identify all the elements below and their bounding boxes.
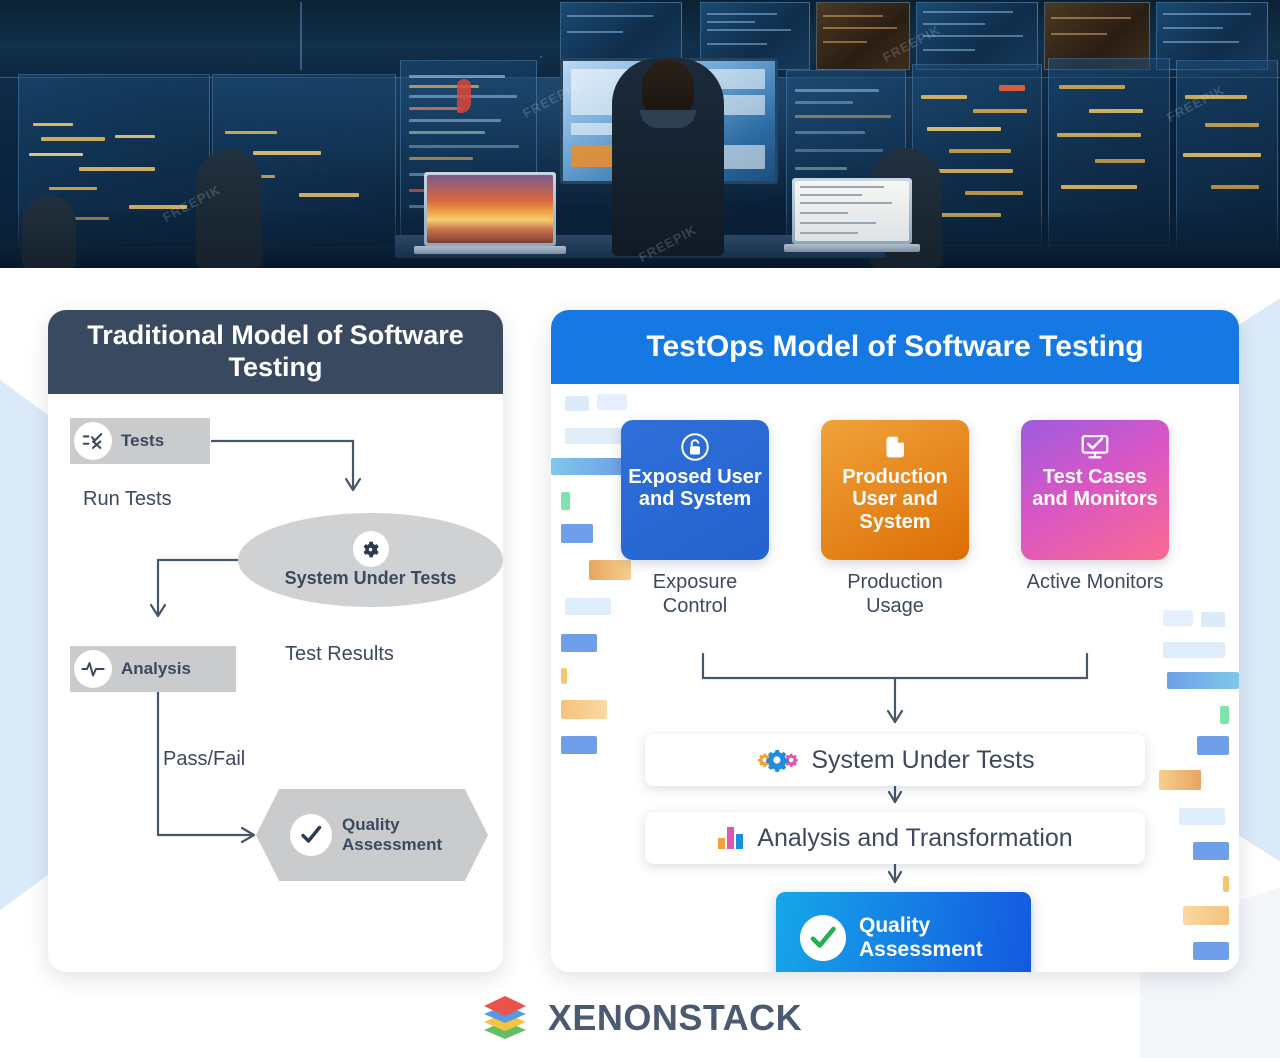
wall-monitor [300,2,302,70]
gear-icon [353,531,389,567]
node-quality-assessment-label: Quality Assessment [342,815,488,854]
outcome-quality-assessment-label: Quality Assessment [859,914,1031,962]
gears-icon [755,747,799,773]
office-chair [22,196,76,268]
step-analysis-transformation[interactable]: Analysis and Transformation [645,812,1145,864]
check-circle-icon [800,915,846,961]
node-system-under-tests[interactable]: System Under Tests [238,513,503,607]
checklist-icon [74,422,112,460]
testops-model-title: TestOps Model of Software Testing [551,310,1239,384]
step-system-under-tests-label: System Under Tests [811,746,1034,775]
diagram-canvas: Traditional Model of Software Testing [0,268,1280,1058]
footer-brand: XENONSTACK [0,978,1280,1058]
node-tests-label: Tests [121,431,164,451]
caption-test-results: Test Results [285,643,394,666]
node-analysis-label: Analysis [121,659,191,679]
node-quality-assessment[interactable]: Quality Assessment [256,789,488,881]
traditional-model-panel: Traditional Model of Software Testing [48,310,503,972]
laptop-left [424,172,556,246]
caption-pass-fail: Pass/Fail [163,748,245,771]
node-system-under-tests-label: System Under Tests [285,568,457,589]
hero-image: FREEPIK FREEPIK FREEPIK FREEPIK FREEPIK [0,0,1280,268]
laptop-screen-sunset [427,175,553,243]
traditional-model-diagram: Tests Run Tests System Under Tests Test … [48,394,503,972]
person-collar [640,110,696,128]
bar-chart-icon [717,825,745,851]
brand-name: XENONSTACK [548,997,802,1039]
step-analysis-transformation-label: Analysis and Transformation [757,824,1072,853]
laptop-right [792,178,912,244]
node-tests[interactable]: Tests [70,418,210,464]
laptop-screen-code [795,181,909,241]
person-head [642,60,694,116]
testops-model-diagram: Exposed User and System Exposure Control… [551,384,1239,972]
caption-run-tests: Run Tests [83,488,172,511]
node-analysis[interactable]: Analysis [70,646,236,692]
outcome-quality-assessment[interactable]: Quality Assessment [776,892,1031,972]
traditional-model-title: Traditional Model of Software Testing [48,310,503,394]
layers-stack-icon [478,991,532,1045]
check-icon [290,814,332,856]
pulse-icon [74,650,112,688]
testops-connectors [551,384,1239,972]
office-chair [196,150,262,268]
person-silhouette [612,58,724,256]
testops-model-panel: TestOps Model of Software Testing [551,310,1239,972]
step-system-under-tests[interactable]: System Under Tests [645,734,1145,786]
